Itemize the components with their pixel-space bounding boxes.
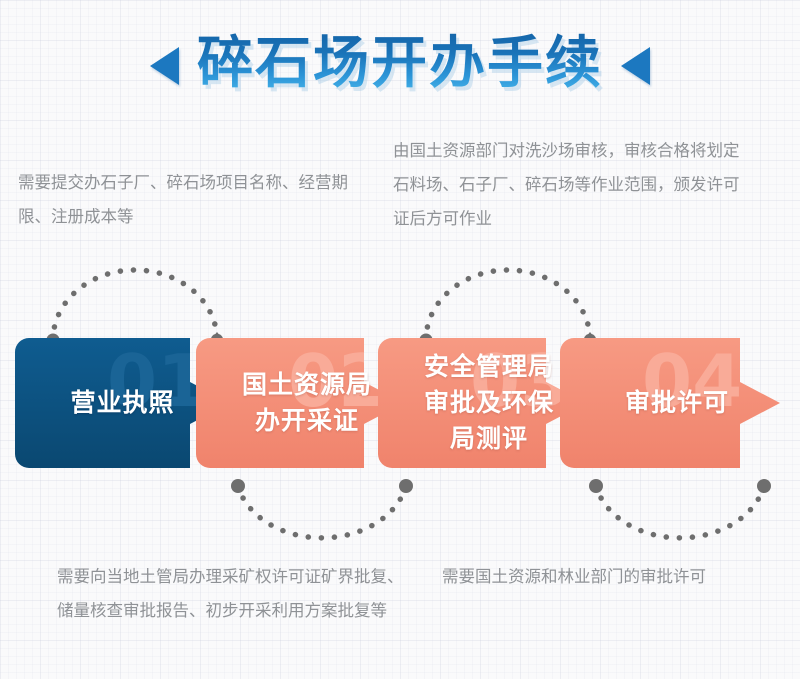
arc-bottom-step4 (580, 478, 780, 558)
page-title: 碎石场开办手续 碎石场开办手续 (193, 30, 607, 102)
step-3-label: 安全管理局 审批及环保 局测评 (410, 349, 554, 457)
description-top-left: 需要提交办石子厂、碎石场项目名称、经营期限、注册成本等 (18, 166, 378, 234)
step-item-2[interactable]: 02 国土资源局 办开采证 (196, 338, 404, 468)
infographic-page: 碎石场开办手续 碎石场开办手续 需要提交办石子厂、碎石场项目名称、经营期限、注册… (0, 0, 800, 679)
description-bottom-right: 需要国土资源和林业部门的审批许可 (442, 560, 800, 594)
step-1-label: 营业执照 (70, 385, 174, 421)
arc-bottom-step2 (222, 478, 422, 558)
triangle-left-icon-end (621, 47, 650, 85)
page-title-text: 碎石场开办手续 (193, 30, 607, 102)
step-item-3[interactable]: 03 安全管理局 审批及环保 局测评 (378, 338, 586, 468)
triangle-left-icon-start (150, 47, 179, 85)
process-steps: 01 营业执照 02 (0, 338, 800, 468)
description-top-right: 由国土资源部门对洗沙场审核，审核合格将划定石料场、石子厂、碎石场等作业范围，颁发… (393, 134, 753, 236)
step-2-label: 国土资源局 办开采证 (228, 367, 372, 439)
arc-top-step1-to-step2 (35, 262, 235, 348)
step-item-4[interactable]: 04 审批许可 (560, 338, 780, 468)
step-4-label: 审批许可 (611, 385, 729, 421)
description-bottom-left: 需要向当地土管局办理采矿权许可证矿界批复、储量核查审批报告、初步开采利用方案批复… (57, 560, 417, 628)
title-row: 碎石场开办手续 碎石场开办手续 (0, 18, 800, 114)
arc-top-step3 (408, 262, 608, 348)
